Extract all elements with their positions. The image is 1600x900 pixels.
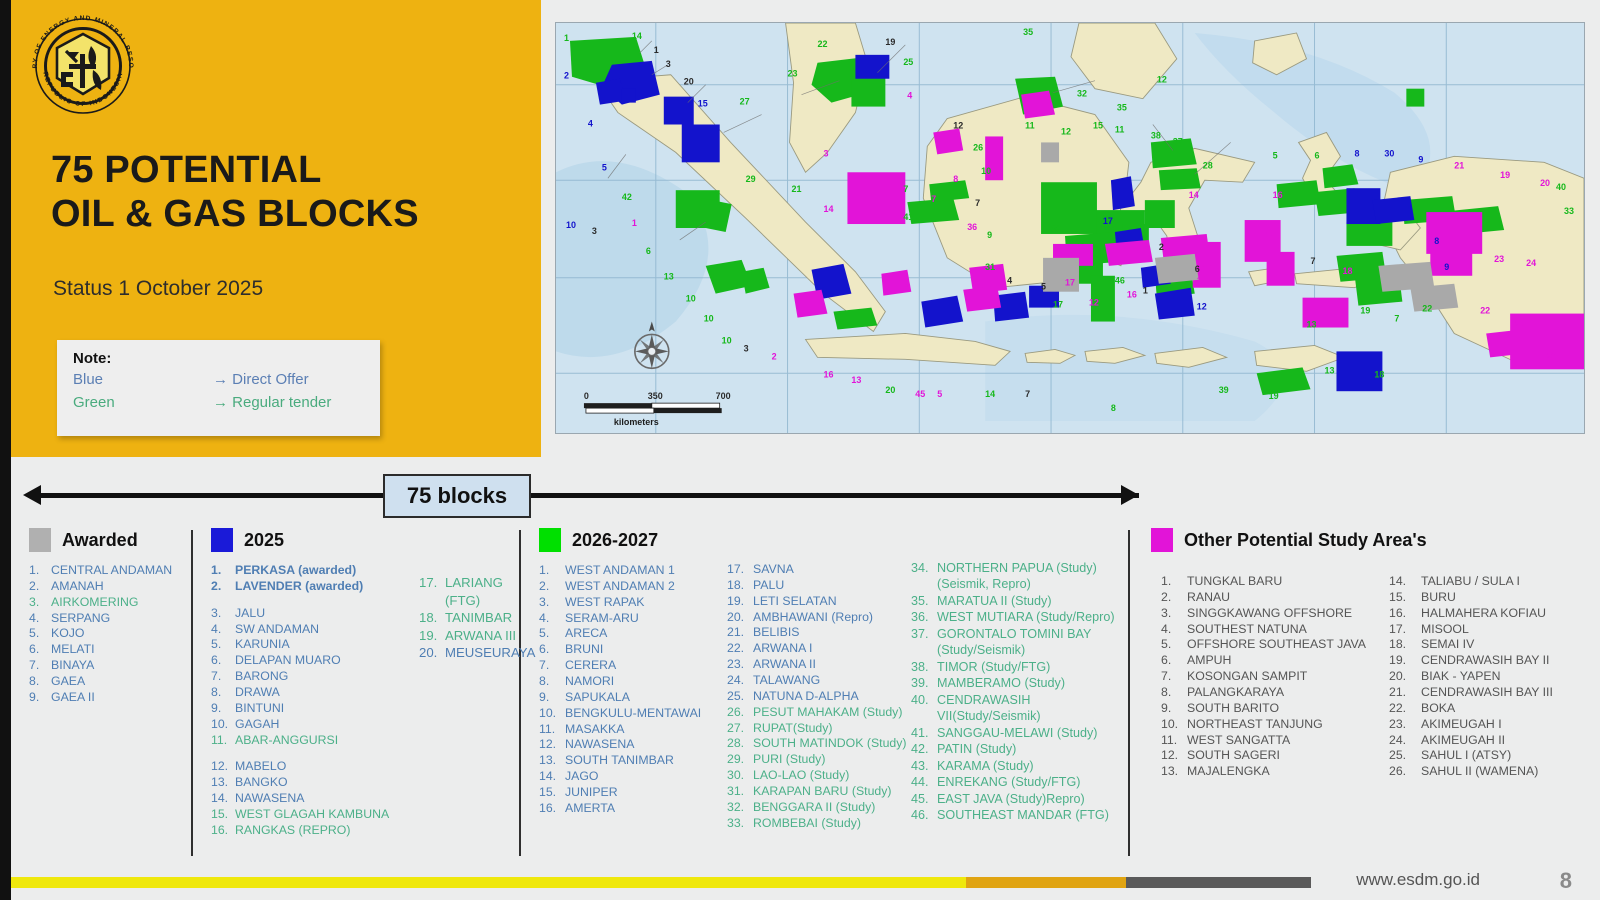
list-item-label: MASAKKA — [565, 722, 624, 738]
list-item-number: 2. — [211, 579, 235, 595]
list-item-label: KARAMA (Study) — [937, 758, 1034, 774]
svg-text:19: 19 — [1500, 170, 1510, 180]
svg-text:18: 18 — [1374, 369, 1384, 379]
list-item[interactable]: 10.BENGKULU-MENTAWAI — [539, 706, 724, 722]
page-number: 8 — [1560, 868, 1572, 894]
list-item-number: 12. — [1161, 748, 1187, 764]
svg-text:20: 20 — [885, 385, 895, 395]
list-item-label: SOUTH MATINDOK (Study) — [753, 736, 907, 752]
list-item-number: 18. — [1389, 637, 1421, 653]
list-item-label: CENDRAWASIH — [937, 692, 1031, 708]
website-url[interactable]: www.esdm.go.id — [1356, 870, 1480, 890]
list-item-number: 41. — [911, 725, 937, 741]
list-item-label: SERPANG — [51, 611, 110, 627]
list-item[interactable]: 1.TUNGKAL BARU — [1161, 574, 1391, 590]
list-item-number: 20. — [727, 610, 753, 626]
list-item-number: 15. — [1389, 590, 1421, 606]
svg-text:7: 7 — [1025, 389, 1030, 399]
list-item-label: OFFSHORE SOUTHEAST JAVA — [1187, 637, 1366, 653]
list-item[interactable]: 35.MARATUA II (Study) — [911, 593, 1126, 609]
svg-text:13: 13 — [851, 375, 861, 385]
list-item[interactable]: 46.SOUTHEAST MANDAR (FTG) — [911, 807, 1126, 823]
indonesia-blocks-map: 114 13 220 1527 45 421 613 1010 103 216 … — [555, 22, 1585, 434]
list-item[interactable]: 12.SOUTH SAGERI — [1161, 748, 1391, 764]
svg-text:37: 37 — [1173, 136, 1183, 146]
list-item[interactable]: 7.BINAYA — [29, 658, 189, 674]
list-item[interactable]: 20.AMBHAWANI (Repro) — [727, 610, 912, 626]
list-item-label: PATIN (Study) — [937, 741, 1016, 757]
svg-text:4: 4 — [1007, 276, 1012, 286]
list-item-label: GORONTALO TOMINI BAY — [937, 626, 1091, 642]
list-item-label: BELIBIS — [753, 625, 799, 641]
list-item-number: 4. — [539, 611, 565, 627]
list-item-number: 30. — [727, 768, 753, 784]
list-item-label: RANGKAS (REPRO) — [235, 823, 350, 839]
list-item-number: 40. — [911, 692, 937, 708]
blocks-count-badge: 75 blocks — [383, 474, 531, 518]
list-item-number: 24. — [1389, 733, 1421, 749]
list-item[interactable]: 1.WEST ANDAMAN 1 — [539, 563, 724, 579]
svg-text:32: 32 — [1077, 89, 1087, 99]
list-2026-c: 34.NORTHERN PAPUA (Study)(Seismik, Repro… — [911, 560, 1126, 824]
list-item[interactable]: 11.WEST SANGATTA — [1161, 733, 1391, 749]
list-item[interactable]: 2.AMANAH — [29, 579, 189, 595]
list-item[interactable]: 6.AMPUH — [1161, 653, 1391, 669]
svg-text:38: 38 — [1151, 130, 1161, 140]
note-row-blue: Blue → Direct Offer — [73, 369, 380, 392]
list-item-label: NATUNA D-ALPHA — [753, 689, 859, 705]
note-title: Note: — [73, 350, 380, 367]
svg-text:8: 8 — [1111, 403, 1116, 413]
list-item-label: SW ANDAMAN — [235, 622, 319, 638]
list-item-number: 25. — [727, 689, 753, 705]
list-item[interactable]: 7.BARONG — [211, 669, 416, 685]
svg-text:45: 45 — [915, 389, 925, 399]
list-item[interactable]: 19.LETI SELATAN — [727, 594, 912, 610]
svg-text:6: 6 — [646, 246, 651, 256]
list-item[interactable]: 25.SAHUL I (ATSY) — [1389, 748, 1599, 764]
list-item-continuation: (Seismik, Repro) — [937, 576, 1031, 592]
list-item-number: 46. — [911, 807, 937, 823]
list-item[interactable]: 6.MELATI — [29, 642, 189, 658]
svg-text:14: 14 — [632, 31, 642, 41]
svg-text:10: 10 — [722, 335, 732, 345]
list-item-number: 16. — [211, 823, 235, 839]
svg-text:15: 15 — [1197, 276, 1207, 286]
svg-text:20: 20 — [684, 77, 694, 87]
svg-text:4: 4 — [588, 119, 593, 129]
list-item[interactable]: 8.PALANGKARAYA — [1161, 685, 1391, 701]
slide-root: MINISTRY OF ENERGY AND MINERAL RESOURCES… — [0, 0, 1600, 900]
list-item[interactable]: 13.BANGKO — [211, 775, 416, 791]
list-item[interactable]: 2.RANAU — [1161, 590, 1391, 606]
list-item[interactable]: 19.ARWANA III — [419, 627, 519, 645]
list-item-number: 10. — [1161, 717, 1187, 733]
list-item[interactable]: 21.BELIBIS — [727, 625, 912, 641]
svg-text:2: 2 — [564, 71, 569, 81]
svg-text:20: 20 — [1540, 178, 1550, 188]
list-item[interactable]: 44.ENREKANG (Study/FTG) — [911, 774, 1126, 790]
svg-text:7: 7 — [1394, 314, 1399, 324]
list-item[interactable]: 4.SW ANDAMAN — [211, 622, 416, 638]
list-item[interactable]: 37.GORONTALO TOMINI BAY — [911, 626, 1126, 642]
list-item-label: WEST GLAGAH KAMBUNA — [235, 807, 389, 823]
list-item-label: SOUTHEST NATUNA — [1187, 622, 1307, 638]
svg-text:17: 17 — [1053, 300, 1063, 310]
svg-text:14: 14 — [1189, 190, 1199, 200]
list-item-number: 3. — [1161, 606, 1187, 622]
list-item-number: 11. — [211, 733, 235, 749]
list-item[interactable]: 13.MAJALENGKA — [1161, 764, 1391, 780]
svg-text:44: 44 — [1093, 260, 1103, 270]
list-item[interactable]: (Study/Seismik) — [911, 642, 1126, 658]
svg-text:16: 16 — [823, 369, 833, 379]
list-item-number: 13. — [539, 753, 565, 769]
list-item[interactable]: 3.JALU — [211, 606, 416, 622]
svg-text:350: 350 — [648, 391, 663, 401]
list-item-continuation: VII(Study/Seismik) — [937, 708, 1041, 724]
list-item[interactable]: 16.RANGKAS (REPRO) — [211, 823, 416, 839]
list-item-label: EAST JAVA (Study)Repro) — [937, 791, 1085, 807]
title-line-1: 75 POTENTIAL — [51, 149, 322, 191]
list-item[interactable]: 17.SAVNA — [727, 562, 912, 578]
list-item-label: BINTUNI — [235, 701, 284, 717]
list-item-label: CENDRAWASIH BAY III — [1421, 685, 1553, 701]
list-item[interactable]: 28.SOUTH MATINDOK (Study) — [727, 736, 912, 752]
list-item-number: 8. — [539, 674, 565, 690]
svg-text:24: 24 — [1526, 258, 1536, 268]
svg-text:kilometers: kilometers — [614, 417, 659, 427]
list-item-label: LAO-LAO (Study) — [753, 768, 849, 784]
list-item-label: WEST ANDAMAN 1 — [565, 563, 675, 579]
list-item-label: RANAU — [1187, 590, 1230, 606]
svg-text:26: 26 — [1546, 351, 1556, 361]
list-item[interactable]: 4.SERPANG — [29, 611, 189, 627]
list-item[interactable]: 24.AKIMEUGAH II — [1389, 733, 1599, 749]
list-item-number: 33. — [727, 816, 753, 832]
list-item[interactable]: 38.TIMOR (Study/FTG) — [911, 659, 1126, 675]
list-item[interactable]: 34.NORTHERN PAPUA (Study) — [911, 560, 1126, 576]
svg-text:3: 3 — [592, 226, 597, 236]
list-item-number: 4. — [1161, 622, 1187, 638]
list-item-label: PESUT MAHAKAM (Study) — [753, 705, 902, 721]
list-item-number: 38. — [911, 659, 937, 675]
list-item[interactable]: 17.MISOOL — [1389, 622, 1599, 638]
svg-text:29: 29 — [746, 174, 756, 184]
list-2026-b: 17.SAVNA18.PALU19.LETI SELATAN20.AMBHAWA… — [727, 562, 912, 832]
list-item-label: MARATUA II (Study) — [937, 593, 1052, 609]
list-item-label: BURU — [1421, 590, 1456, 606]
list-item-number: 39. — [911, 675, 937, 691]
svg-text:1: 1 — [564, 33, 569, 43]
list-item[interactable]: 23.ARWANA II — [727, 657, 912, 673]
list-item-label: ARECA — [565, 626, 607, 642]
list-item-label: BOKA — [1421, 701, 1455, 717]
list-item[interactable]: 1.PERKASA (awarded) — [211, 563, 416, 579]
list-item-number: 14. — [1389, 574, 1421, 590]
list-item-number: 2. — [1161, 590, 1187, 606]
list-item[interactable]: 22.ARWANA I — [727, 641, 912, 657]
list-item[interactable]: 25.NATUNA D-ALPHA — [727, 689, 912, 705]
list-item[interactable]: 14.JAGO — [539, 769, 724, 785]
list-item-label: BRUNI — [565, 642, 603, 658]
list-item-label: NAWASENA — [565, 737, 634, 753]
list-item[interactable]: 9.SOUTH BARITO — [1161, 701, 1391, 717]
svg-text:0: 0 — [584, 391, 589, 401]
list-item-label: SOUTH BARITO — [1187, 701, 1279, 717]
list-item[interactable]: 31.KARAPAN BARU (Study) — [727, 784, 912, 800]
list-item[interactable]: 4.SERAM-ARU — [539, 611, 724, 627]
list-item-label: KARAPAN BARU (Study) — [753, 784, 892, 800]
list-item[interactable]: 33.ROMBEBAI (Study) — [727, 816, 912, 832]
svg-text:46: 46 — [1115, 276, 1125, 286]
list-item[interactable]: 11.MASAKKA — [539, 722, 724, 738]
list-item-label: BINAYA — [51, 658, 94, 674]
list-item-label: AMPUH — [1187, 653, 1231, 669]
list-item[interactable]: VII(Study/Seismik) — [911, 708, 1126, 724]
list-item[interactable]: 8.NAMORI — [539, 674, 724, 690]
list-item-number: 8. — [211, 685, 235, 701]
svg-text:27: 27 — [740, 97, 750, 107]
note-key-green: Green — [73, 392, 213, 415]
svg-text:18: 18 — [1342, 266, 1352, 276]
list-item-number: 9. — [29, 690, 51, 706]
list-item[interactable]: 10.NORTHEAST TANJUNG — [1161, 717, 1391, 733]
list-item[interactable]: 32.BENGGARA II (Study) — [727, 800, 912, 816]
list-item[interactable]: 14.TALIABU / SULA I — [1389, 574, 1599, 590]
list-item-number: 32. — [727, 800, 753, 816]
list-item-label: MELATI — [51, 642, 95, 658]
list-item-label: TANIMBAR — [445, 609, 512, 627]
list-item-label: ROMBEBAI (Study) — [753, 816, 861, 832]
arrow-right-head — [1121, 485, 1139, 505]
note-value-blue: → Direct Offer — [213, 369, 309, 392]
svg-text:5: 5 — [937, 389, 942, 399]
swatch-2025 — [211, 528, 233, 552]
column-2026-2027-cont2: 34.NORTHERN PAPUA (Study)(Seismik, Repro… — [911, 528, 1126, 824]
title-line-2: OIL & GAS BLOCKS — [51, 192, 521, 236]
list-item[interactable]: 26.SAHUL II (WAMENA) — [1389, 764, 1599, 780]
list-item-label: MISOOL — [1421, 622, 1469, 638]
list-item-number: 9. — [539, 690, 565, 706]
divider-3 — [1128, 530, 1130, 856]
list-item[interactable]: 20.MEUSEURAYA — [419, 644, 519, 662]
svg-text:3: 3 — [666, 59, 671, 69]
list-item-number: 4. — [211, 622, 235, 638]
list-item[interactable]: 12.NAWASENA — [539, 737, 724, 753]
list-item[interactable]: 2.LAVENDER (awarded) — [211, 579, 416, 595]
page-title: 75 POTENTIAL OIL & GAS BLOCKS — [51, 148, 521, 236]
list-item-number: 6. — [211, 653, 235, 669]
list-item-label: HALMAHERA KOFIAU — [1421, 606, 1546, 622]
list-item[interactable]: 5.KARUNIA — [211, 637, 416, 653]
list-item-label: PALU — [753, 578, 784, 594]
list-item[interactable]: 9.SAPUKALA — [539, 690, 724, 706]
list-item[interactable]: 45.EAST JAVA (Study)Repro) — [911, 791, 1126, 807]
svg-text:11: 11 — [1115, 124, 1124, 134]
swatch-2026-2027 — [539, 528, 561, 552]
list-item-number: 15. — [211, 807, 235, 823]
list-item[interactable]: 3.WEST RAPAK — [539, 595, 724, 611]
list-item[interactable]: 11.ABAR-ANGGURSI — [211, 733, 416, 749]
list-item-number: 14. — [539, 769, 565, 785]
list-other-b: 14.TALIABU / SULA I15.BURU16.HALMAHERA K… — [1389, 574, 1599, 780]
list-item[interactable]: 18.TANIMBAR — [419, 609, 519, 627]
svg-text:10: 10 — [686, 294, 696, 304]
list-item-number: 1. — [539, 563, 565, 579]
svg-text:42: 42 — [622, 192, 632, 202]
list-item[interactable]: 10.GAGAH — [211, 717, 416, 733]
list-awarded: 1.CENTRAL ANDAMAN2.AMANAH3.AIRKOMERING4.… — [29, 563, 189, 706]
swatch-awarded — [29, 528, 51, 552]
list-item-number: 11. — [539, 722, 565, 738]
list-item[interactable]: 9.BINTUNI — [211, 701, 416, 717]
list-item[interactable]: 13.SOUTH TANIMBAR — [539, 753, 724, 769]
list-item[interactable]: 7.KOSONGAN SAMPIT — [1161, 669, 1391, 685]
list-item[interactable]: 23.AKIMEUGAH I — [1389, 717, 1599, 733]
list-item-label: PERKASA (awarded) — [235, 563, 356, 579]
list-item-label: RUPAT(Study) — [753, 721, 833, 737]
list-item[interactable]: 24.TALAWANG — [727, 673, 912, 689]
list-item[interactable]: 22.BOKA — [1389, 701, 1599, 717]
list-item-number: 19. — [419, 627, 445, 645]
list-item-label: MEUSEURAYA — [445, 644, 535, 662]
svg-text:16: 16 — [1127, 290, 1137, 300]
list-item-label: SINGGKAWANG OFFSHORE — [1187, 606, 1352, 622]
list-item-label: SOUTH TANIMBAR — [565, 753, 674, 769]
list-item-label: NAMORI — [565, 674, 614, 690]
list-item-label: DELAPAN MUARO — [235, 653, 341, 669]
footer-bar-gray — [1126, 877, 1311, 888]
list-item[interactable]: 15.BURU — [1389, 590, 1599, 606]
list-item[interactable]: 15.WEST GLAGAH KAMBUNA — [211, 807, 416, 823]
list-item[interactable]: 39.MAMBERAMO (Study) — [911, 675, 1126, 691]
svg-text:5: 5 — [1041, 282, 1046, 292]
list-item[interactable]: 6.BRUNI — [539, 642, 724, 658]
svg-text:2: 2 — [1159, 242, 1164, 252]
list-item-label: WEST MUTIARA (Study/Repro) — [937, 609, 1115, 625]
list-item-number: 18. — [419, 609, 445, 627]
list-item-label: GAEA — [51, 674, 85, 690]
svg-text:10: 10 — [704, 314, 714, 324]
list-item[interactable]: 20.BIAK - YAPEN — [1389, 669, 1599, 685]
list-item[interactable]: 18.PALU — [727, 578, 912, 594]
list-item-label: GAGAH — [235, 717, 279, 733]
list-item[interactable]: 36.WEST MUTIARA (Study/Repro) — [911, 609, 1126, 625]
list-item-number: 8. — [1161, 685, 1187, 701]
list-item[interactable]: 1.CENTRAL ANDAMAN — [29, 563, 189, 579]
list-item[interactable]: 3.AIRKOMERING — [29, 595, 189, 611]
list-item-number: 23. — [1389, 717, 1421, 733]
svg-text:14: 14 — [823, 204, 833, 214]
svg-text:7: 7 — [903, 184, 908, 194]
svg-text:8: 8 — [1354, 148, 1359, 158]
svg-text:35: 35 — [1023, 27, 1033, 37]
list-item[interactable]: 18.SEMAI IV — [1389, 637, 1599, 653]
column-2026-2027-cont1: 17.SAVNA18.PALU19.LETI SELATAN20.AMBHAWA… — [727, 528, 912, 832]
list-item-label: KARUNIA — [235, 637, 290, 653]
list-item[interactable]: 17.LARIANG (FTG) — [419, 574, 519, 609]
list-item[interactable]: 26.PESUT MAHAKAM (Study) — [727, 705, 912, 721]
list-item-label: SEMAI IV — [1421, 637, 1474, 653]
list-item[interactable]: 8.GAEA — [29, 674, 189, 690]
footer-color-bar — [11, 877, 1311, 888]
esdm-logo: MINISTRY OF ENERGY AND MINERAL RESOURCES… — [23, 8, 143, 113]
list-item-label: LAVENDER (awarded) — [235, 579, 363, 595]
list-item[interactable]: 30.LAO-LAO (Study) — [727, 768, 912, 784]
list-item-number: 27. — [727, 721, 753, 737]
svg-text:8: 8 — [1434, 236, 1439, 246]
svg-text:22: 22 — [1480, 306, 1490, 316]
list-item-number: 12. — [211, 759, 235, 775]
list-item[interactable]: 15.JUNIPER — [539, 785, 724, 801]
list-item-label: JALU — [235, 606, 265, 622]
list-item[interactable]: 9.GAEA II — [29, 690, 189, 706]
list-item[interactable]: 5.OFFSHORE SOUTHEAST JAVA — [1161, 637, 1391, 653]
list-item-number: 18. — [727, 578, 753, 594]
list-item[interactable]: 29.PURI (Study) — [727, 752, 912, 768]
list-item-label: WEST SANGATTA — [1187, 733, 1290, 749]
list-item[interactable]: 5.ARECA — [539, 626, 724, 642]
list-item[interactable]: 21.CENDRAWASIH BAY III — [1389, 685, 1599, 701]
svg-text:23: 23 — [788, 69, 798, 79]
svg-text:1: 1 — [632, 218, 637, 228]
svg-text:12: 12 — [1061, 126, 1071, 136]
list-item[interactable]: 42.PATIN (Study) — [911, 741, 1126, 757]
list-item[interactable]: 3.SINGGKAWANG OFFSHORE — [1161, 606, 1391, 622]
list-item-number: 12. — [539, 737, 565, 753]
list-item-number: 43. — [911, 758, 937, 774]
list-item-number: 20. — [1389, 669, 1421, 685]
list-item-number: 2. — [29, 579, 51, 595]
list-item[interactable]: 16.AMERTA — [539, 801, 724, 817]
svg-text:5: 5 — [602, 162, 607, 172]
svg-text:13: 13 — [664, 272, 674, 282]
list-item[interactable]: 5.KOJO — [29, 626, 189, 642]
list-item[interactable]: 14.NAWASENA — [211, 791, 416, 807]
svg-text:28: 28 — [1203, 160, 1213, 170]
list-item[interactable]: 7.CERERA — [539, 658, 724, 674]
list-item[interactable]: 19.CENDRAWASIH BAY II — [1389, 653, 1599, 669]
list-item-number: 29. — [727, 752, 753, 768]
list-item[interactable]: 6.DELAPAN MUARO — [211, 653, 416, 669]
svg-text:19: 19 — [1360, 306, 1370, 316]
list-item-label: ARWANA I — [753, 641, 812, 657]
svg-text:17: 17 — [1103, 216, 1113, 226]
list-item[interactable]: 41.SANGGAU-MELAWI (Study) — [911, 725, 1126, 741]
list-item[interactable]: 40.CENDRAWASIH — [911, 692, 1126, 708]
list-item[interactable]: 2.WEST ANDAMAN 2 — [539, 579, 724, 595]
list-item[interactable]: 43.KARAMA (Study) — [911, 758, 1126, 774]
column-2025: 2025 1.PERKASA (awarded)2.LAVENDER (awar… — [211, 528, 416, 839]
list-item[interactable]: 16.HALMAHERA KOFIAU — [1389, 606, 1599, 622]
list-item[interactable]: (Seismik, Repro) — [911, 576, 1126, 592]
swatch-other-study — [1151, 528, 1173, 552]
list-item[interactable]: 8.DRAWA — [211, 685, 416, 701]
list-item-number: 5. — [539, 626, 565, 642]
list-item[interactable]: 12.MABELO — [211, 759, 416, 775]
list-item-label: KOSONGAN SAMPIT — [1187, 669, 1307, 685]
list-item-label: BANGKO — [235, 775, 288, 791]
list-item-continuation: (Study/Seismik) — [937, 642, 1025, 658]
list-item[interactable]: 27.RUPAT(Study) — [727, 721, 912, 737]
list-item[interactable]: 4.SOUTHEST NATUNA — [1161, 622, 1391, 638]
list-item-number: 5. — [1161, 637, 1187, 653]
list-item-label: JUNIPER — [565, 785, 618, 801]
header-panel: MINISTRY OF ENERGY AND MINERAL RESOURCES… — [11, 0, 541, 457]
list-spacer — [211, 595, 416, 606]
svg-text:7: 7 — [931, 194, 936, 204]
